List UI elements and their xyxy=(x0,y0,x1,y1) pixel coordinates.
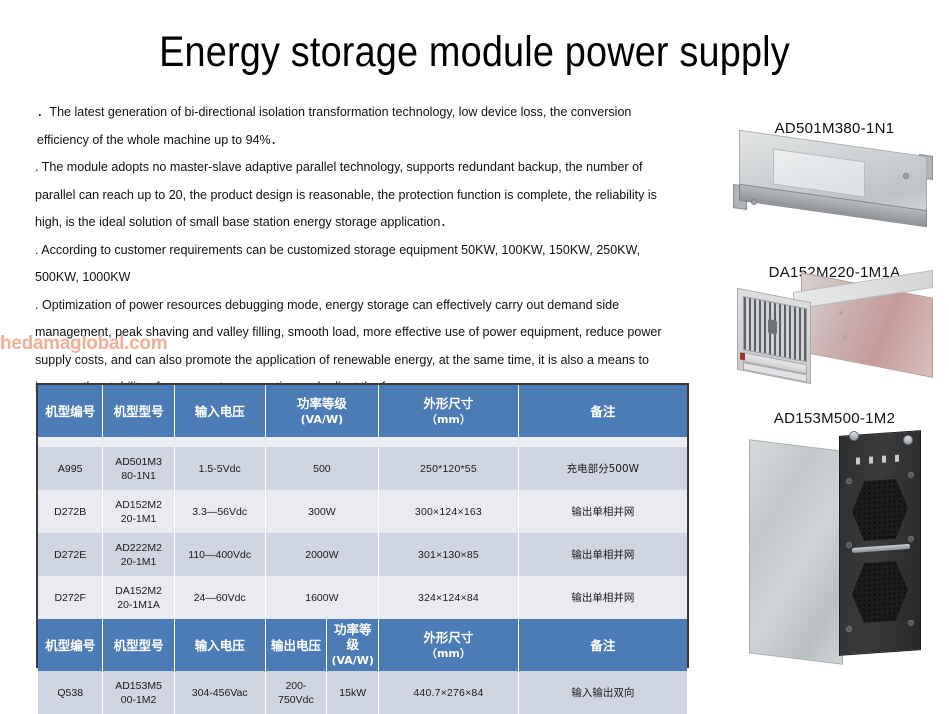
header-input-voltage: 输入电压 xyxy=(174,619,265,671)
cell-dimension: 300×124×163 xyxy=(379,490,519,533)
cell-dimension: 301×130×85 xyxy=(379,533,519,576)
cell-input-voltage: 110—400Vdc xyxy=(174,533,265,576)
paragraph-2: . The module adopts no master-slave adap… xyxy=(35,153,673,236)
slide-page: Energy storage module power supply ．The … xyxy=(0,0,949,708)
header-power-level: 功率等级 (VA/W) xyxy=(265,385,379,437)
specification-table: 机型编号 机型型号 输入电压 功率等级 (VA/W) 外形尺寸 （mm） 备注 … xyxy=(36,383,689,668)
table-spacer xyxy=(38,437,687,447)
vented-rack-module-icon xyxy=(731,281,936,381)
table-row: D272E AD222M2 20-1M1 110—400Vdc 2000W 30… xyxy=(38,533,687,576)
table-header-row-2: 机型编号 机型型号 输入电压 输出电压 功率等级 (VA/W) 外形尺寸 （mm… xyxy=(38,619,687,671)
cell-power: 300W xyxy=(265,490,379,533)
product-1: AD501M380-1N1 xyxy=(727,120,942,232)
cell-model-type: DA152M2 20-1M1A xyxy=(103,576,174,619)
cell-model-type: AD152M2 20-1M1 xyxy=(103,490,174,533)
flat-silver-chassis-icon xyxy=(733,137,933,232)
cell-model-no: D272E xyxy=(38,533,103,576)
cell-model-type: AD222M2 20-1M1 xyxy=(103,533,174,576)
cell-dimension: 324×124×84 xyxy=(379,576,519,619)
header-remark: 备注 xyxy=(518,619,687,671)
header-remark: 备注 xyxy=(518,385,687,437)
cell-input-voltage: 3.3—56Vdc xyxy=(174,490,265,533)
paragraph-1: ．The latest generation of bi-directional… xyxy=(35,98,673,153)
header-model-no: 机型编号 xyxy=(38,385,103,437)
description-text-block: ．The latest generation of bi-directional… xyxy=(35,98,673,401)
cell-power: 2000W xyxy=(265,533,379,576)
cell-power: 1600W xyxy=(265,576,379,619)
product-3: AD153M500-1M2 xyxy=(727,410,942,672)
product-2: DA152M220-1M1A xyxy=(727,264,942,381)
table-row: D272B AD152M2 20-1M1 3.3—56Vdc 300W 300×… xyxy=(38,490,687,533)
cell-input-voltage: 1.5-5Vdc xyxy=(174,447,265,490)
header-input-voltage: 输入电压 xyxy=(174,385,265,437)
page-title: Energy storage module power supply xyxy=(57,26,892,78)
header-dimension: 外形尺寸 （mm） xyxy=(379,619,519,671)
product-2-image xyxy=(727,281,942,381)
table-header-row-1: 机型编号 机型型号 输入电压 功率等级 (VA/W) 外形尺寸 （mm） 备注 xyxy=(38,385,687,437)
cell-model-no: A995 xyxy=(38,447,103,490)
cell-remark: 输出单相并网 xyxy=(518,576,687,619)
header-dimension: 外形尺寸 （mm） xyxy=(379,385,519,437)
cell-input-voltage: 24—60Vdc xyxy=(174,576,265,619)
cell-model-type: AD501M3 80-1N1 xyxy=(103,447,174,490)
cell-remark: 输出单相并网 xyxy=(518,490,687,533)
header-model-type: 机型型号 xyxy=(103,385,174,437)
header-model-no: 机型编号 xyxy=(38,619,103,671)
cell-remark: 充电部分500W xyxy=(518,447,687,490)
product-3-label: AD153M500-1M2 xyxy=(727,410,942,427)
cell-remark: 输出单相并网 xyxy=(518,533,687,576)
table-row: A995 AD501M3 80-1N1 1.5-5Vdc 500 250*120… xyxy=(38,447,687,490)
paragraph-3: . According to customer requirements can… xyxy=(35,236,673,291)
product-3-image xyxy=(727,427,942,672)
table-row: D272F DA152M2 20-1M1A 24—60Vdc 1600W 324… xyxy=(38,576,687,619)
product-1-image xyxy=(727,137,942,232)
cell-model-no: D272F xyxy=(38,576,103,619)
black-front-chassis-icon xyxy=(749,427,927,672)
cell-model-no: D272B xyxy=(38,490,103,533)
header-output-voltage: 输出电压 xyxy=(265,619,327,671)
header-power-level: 功率等级 (VA/W) xyxy=(327,619,379,671)
cell-dimension: 250*120*55 xyxy=(379,447,519,490)
cell-power: 500 xyxy=(265,447,379,490)
header-model-type: 机型型号 xyxy=(103,619,174,671)
